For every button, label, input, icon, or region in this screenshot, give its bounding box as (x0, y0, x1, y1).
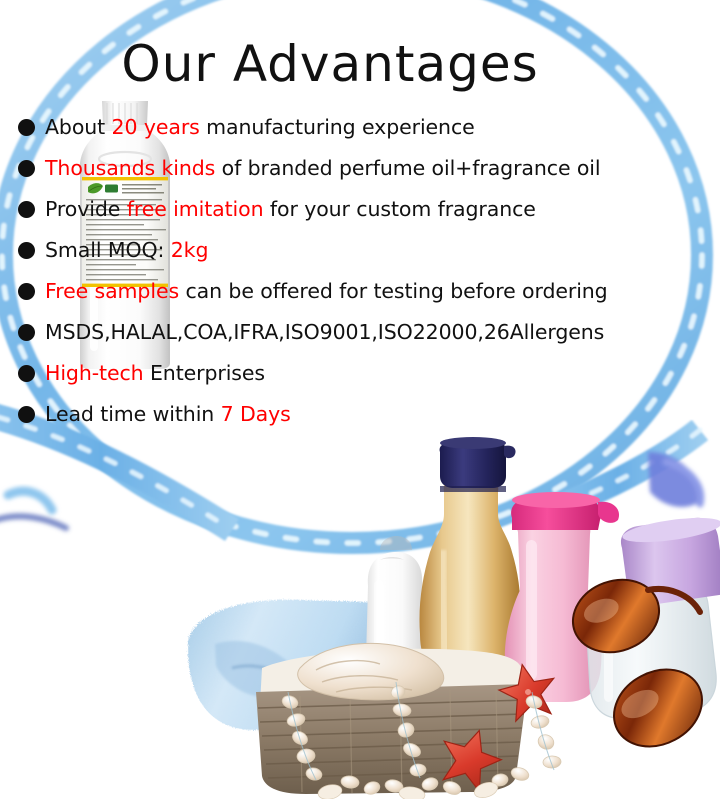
ribbon-tail-right (536, 430, 700, 516)
advantage-item: Thousands kinds of branded perfume oil+f… (18, 154, 708, 195)
advantage-item: Small MOQ: 2kg (18, 236, 708, 277)
seashell-necklace (280, 684, 561, 797)
advantage-plain: Lead time within (45, 402, 221, 426)
bullet-circle-icon (18, 201, 35, 218)
bullet-circle-icon (18, 365, 35, 382)
red-starfish-bottom (433, 721, 508, 795)
red-starfish-top (495, 659, 561, 723)
blue-folded-towel (188, 600, 391, 730)
ribbon-knot-right (648, 452, 702, 507)
bullet-circle-icon (18, 119, 35, 136)
advantage-text: Thousands kinds of branded perfume oil+f… (45, 154, 601, 182)
advantage-item: MSDS,HALAL,COA,IFRA,ISO9001,ISO22000,26A… (18, 318, 708, 359)
advantage-text: Lead time within 7 Days (45, 400, 291, 428)
advantage-text: Small MOQ: 2kg (45, 236, 208, 264)
basket-weave (258, 700, 526, 778)
advantage-plain: MSDS,HALAL,COA,IFRA,ISO9001,ISO22000,26A… (45, 320, 604, 344)
advantage-plain: of branded perfume oil+fragrance oil (215, 156, 600, 180)
advantage-item: Free samples can be offered for testing … (18, 277, 708, 318)
advantage-text: About 20 years manufacturing experience (45, 113, 475, 141)
bottle-label-note: Chinese product label text not legible a… (180, 101, 181, 102)
advantage-highlight: 20 years (112, 115, 200, 139)
advantage-item: Provide free imitation for your custom f… (18, 195, 708, 236)
lilac-spray-bottle (584, 513, 720, 718)
advantage-text: Free samples can be offered for testing … (45, 277, 608, 305)
advantage-plain: Provide (45, 197, 127, 221)
advantage-plain: manufacturing experience (200, 115, 475, 139)
ribbon-curl-left (0, 491, 66, 528)
necklace-thread (288, 682, 554, 780)
advantages-list: About 20 years manufacturing experienceT… (18, 113, 708, 441)
advantage-highlight: Thousands kinds (45, 156, 215, 180)
advantage-plain: for your custom fragrance (263, 197, 535, 221)
advantage-item: High-tech Enterprises (18, 359, 708, 400)
advantage-highlight: Free samples (45, 279, 179, 303)
advantage-item: Lead time within 7 Days (18, 400, 708, 441)
advantage-text: High-tech Enterprises (45, 359, 265, 387)
bullet-circle-icon (18, 324, 35, 341)
bullet-circle-icon (18, 406, 35, 423)
advantage-plain: Enterprises (144, 361, 265, 385)
wicker-basket (256, 649, 528, 794)
advantage-text: MSDS,HALAL,COA,IFRA,ISO9001,ISO22000,26A… (45, 318, 604, 346)
pink-pump-bottle (505, 492, 619, 702)
advantage-plain: About (45, 115, 112, 139)
advantage-highlight: free imitation (127, 197, 264, 221)
advantage-plain: can be offered for testing before orderi… (179, 279, 608, 303)
coral-pieces (317, 780, 500, 799)
white-pink-lotion-bottle (364, 536, 426, 772)
advantage-plain: Small MOQ: (45, 238, 171, 262)
conch-shell (298, 643, 444, 700)
page-title: Our Advantages (0, 34, 660, 94)
advantage-text: Provide free imitation for your custom f… (45, 195, 536, 223)
advantage-highlight: High-tech (45, 361, 144, 385)
advantage-highlight: 7 Days (221, 402, 291, 426)
bullet-circle-icon (18, 242, 35, 259)
product-photo-svg (0, 430, 720, 799)
our-advantages-banner: Our Advantages About 20 years manufactur… (0, 0, 720, 799)
bullet-circle-icon (18, 160, 35, 177)
product-photo-composition (0, 430, 720, 799)
bullet-circle-icon (18, 283, 35, 300)
brown-sunglasses (563, 568, 716, 761)
advantage-item: About 20 years manufacturing experience (18, 113, 708, 154)
advantage-highlight: 2kg (171, 238, 209, 262)
gold-shampoo-bottle (419, 437, 520, 676)
